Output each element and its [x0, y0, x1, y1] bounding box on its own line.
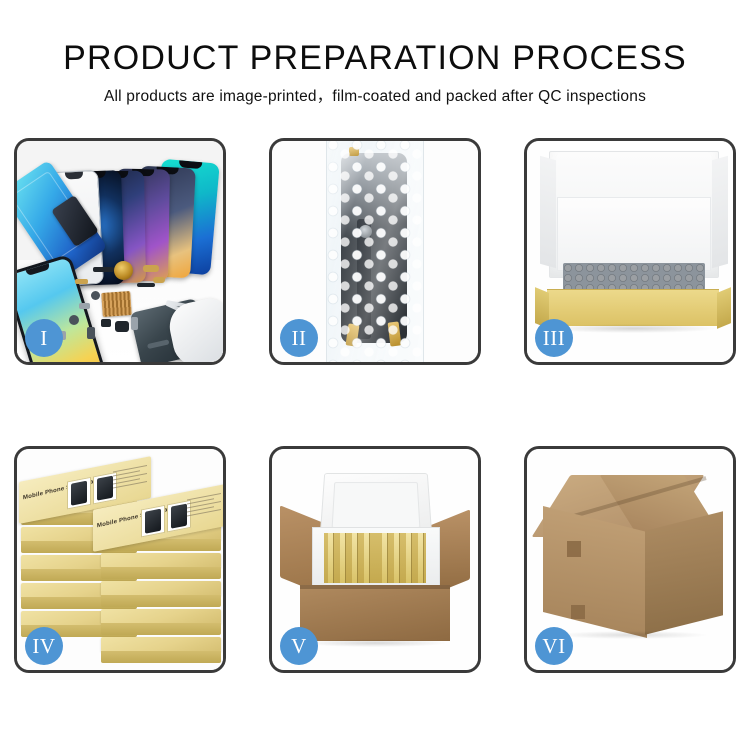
spare-part-button — [87, 327, 95, 339]
page-header: PRODUCT PREPARATION PROCESS All products… — [0, 0, 750, 107]
spare-part-gold-flex — [143, 265, 159, 272]
spare-part-ribbon — [137, 283, 155, 287]
packing-tape — [571, 605, 585, 619]
process-step-panel-3[interactable]: III — [524, 138, 736, 365]
retail-box-slab — [101, 581, 221, 596]
process-step-panel-5[interactable]: V — [269, 446, 481, 673]
step-badge-4: IV — [25, 627, 63, 665]
box-edge — [352, 533, 357, 583]
product-screen — [71, 481, 87, 506]
speaker-module — [114, 261, 133, 280]
spare-part-connector — [93, 267, 114, 272]
page-title: PRODUCT PREPARATION PROCESS — [0, 38, 750, 78]
logic-board-chip — [101, 291, 132, 317]
process-step-panel-4[interactable]: Mobile Phone Spare Parts — [14, 446, 226, 673]
retail-box-slab — [101, 553, 221, 568]
yellow-boxes-inside — [324, 533, 426, 583]
spare-part-bracket — [79, 303, 90, 309]
spec-text-lines — [187, 493, 221, 528]
spare-part-pin — [131, 317, 138, 330]
spare-part-contact — [75, 279, 88, 284]
drop-shadow — [557, 631, 707, 639]
drop-shadow — [304, 639, 446, 647]
spare-part-screw — [69, 315, 79, 325]
box-edge — [364, 533, 369, 583]
speaker-grille — [147, 339, 170, 349]
spec-text-lines — [113, 465, 147, 500]
step-badge-5: V — [280, 627, 318, 665]
box-side — [101, 651, 221, 663]
process-step-panel-6[interactable]: VI — [524, 446, 736, 673]
step-badge-3: III — [535, 319, 573, 357]
step-badge-6: VI — [535, 627, 573, 665]
process-step-grid: I II III — [14, 138, 736, 673]
notch — [65, 172, 84, 180]
box-edge — [406, 533, 411, 583]
box-edge — [340, 533, 345, 583]
box-side — [101, 595, 221, 607]
process-step-panel-2[interactable]: II — [269, 138, 481, 365]
product-window — [141, 505, 165, 538]
bubble-wrap-bag — [326, 141, 424, 362]
box-edge — [418, 533, 423, 583]
product-screen — [97, 476, 113, 501]
plastic-sheen — [327, 141, 423, 362]
product-window — [67, 477, 91, 510]
product-screen — [171, 504, 187, 529]
white-foam-sheet — [557, 197, 711, 271]
drop-shadow — [551, 324, 715, 333]
box-edge — [382, 533, 387, 583]
carton-body — [300, 585, 450, 641]
carton-face-right — [645, 511, 723, 634]
page-subtitle: All products are image-printed，film-coat… — [0, 87, 750, 107]
retail-box-slab — [101, 637, 221, 652]
step-badge-1: I — [25, 319, 63, 357]
box-edge — [328, 533, 333, 583]
box-edge — [394, 533, 399, 583]
step-badge-2: II — [280, 319, 318, 357]
box-side — [101, 623, 221, 635]
box-side — [101, 567, 221, 579]
spare-part-module — [115, 321, 129, 332]
spare-part-gold-flex — [153, 277, 165, 283]
retail-box-slab — [101, 609, 221, 624]
spare-part-ic — [101, 319, 111, 327]
kraft-box-front — [547, 289, 719, 326]
process-step-panel-1[interactable]: I — [14, 138, 226, 365]
product-screen — [145, 509, 161, 534]
spare-part-screw — [91, 291, 100, 300]
packing-tape — [567, 541, 581, 557]
